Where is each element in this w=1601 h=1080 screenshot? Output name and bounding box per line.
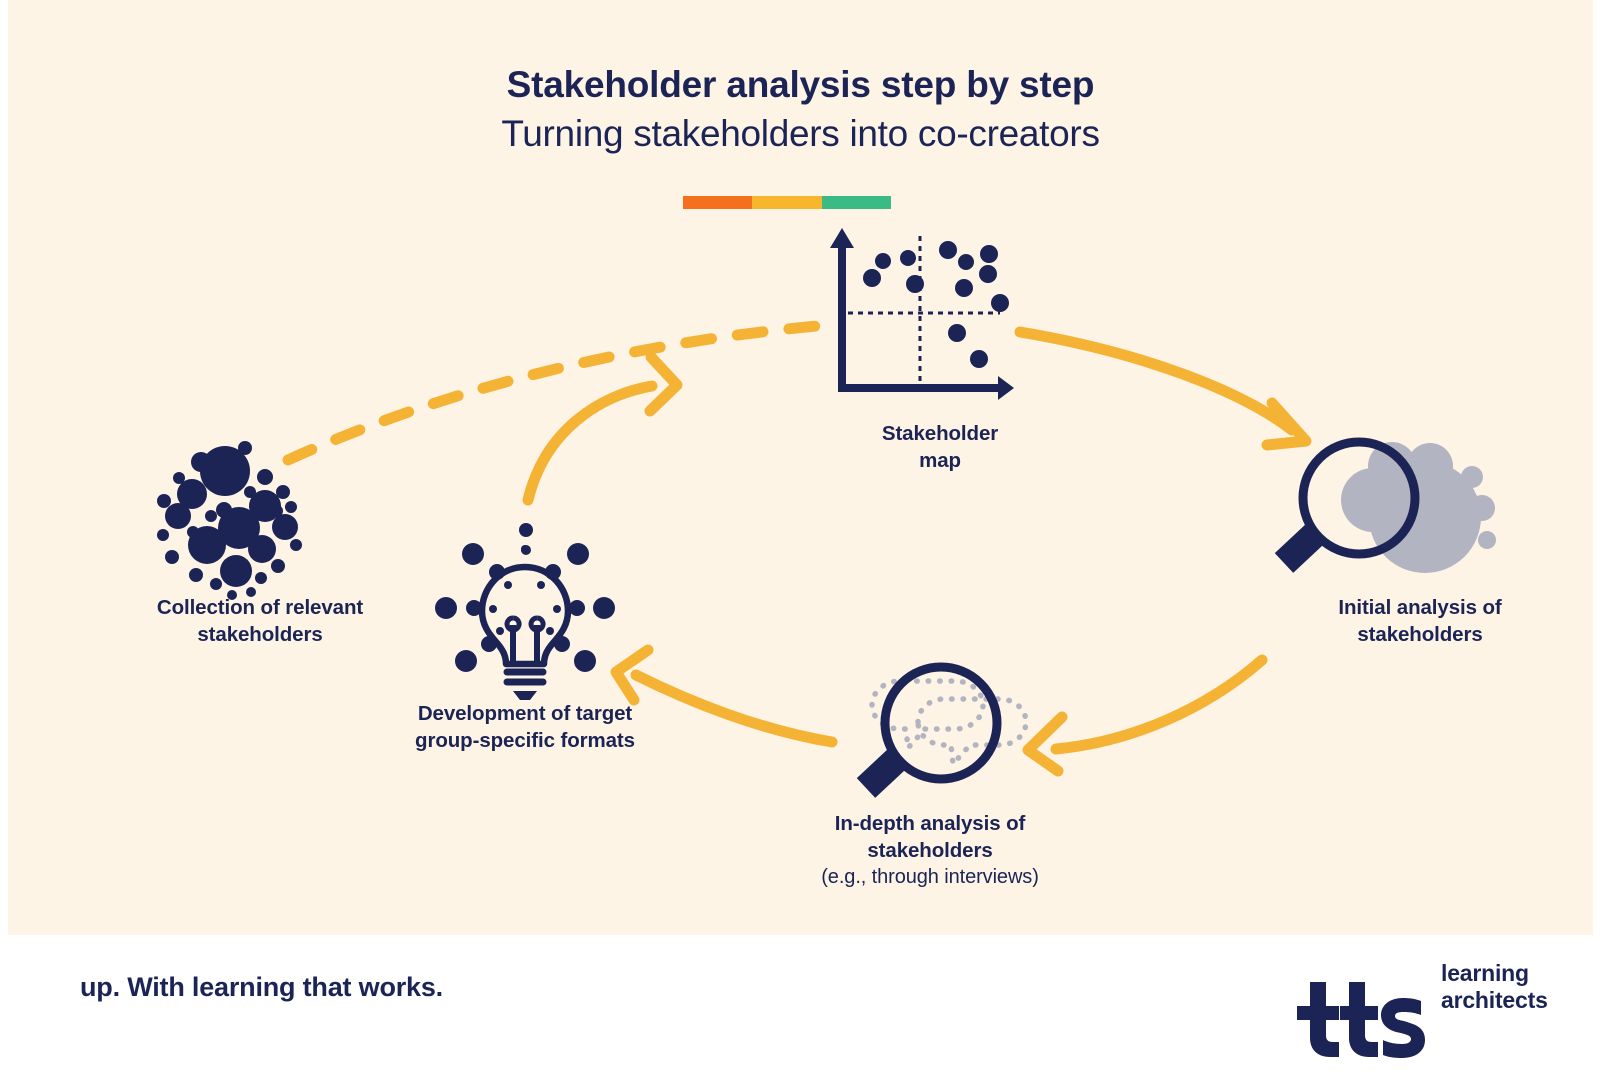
magnifier-lens-2 (885, 667, 997, 779)
lightbulb-glass (482, 567, 568, 664)
scatter-plot-icon (830, 228, 1014, 400)
lightbulb-base (507, 672, 543, 682)
speech-bubble-right (918, 699, 1026, 764)
arrow-map-to-initial-head (1267, 403, 1306, 445)
label-initial-line1: Initial analysis of (1240, 594, 1600, 621)
label-stakeholder-map: Stakeholder map (800, 420, 1080, 474)
label-collection-line2: stakeholders (80, 621, 440, 648)
label-development-line2: group-specific formats (370, 727, 680, 754)
arrow-initial-to-indepth-shaft (1056, 660, 1262, 749)
label-indepth-line1: In-depth analysis of (760, 810, 1100, 837)
magnifier-handle (1284, 534, 1315, 563)
lightbulb-idea-icon (435, 523, 615, 700)
footer-tagline: up. With learning that works. (80, 972, 443, 1003)
label-initial-line2: stakeholders (1240, 621, 1600, 648)
label-collection-line1: Collection of relevant (80, 594, 440, 621)
label-stakeholder-map-line1: Stakeholder (800, 420, 1080, 447)
label-collection-of-stakeholders: Collection of relevant stakeholders (80, 594, 440, 648)
scatter-x-arrowhead (998, 376, 1014, 400)
diagram-canvas (0, 0, 1601, 1080)
magnifier-speech-bubbles-icon (866, 667, 1026, 788)
lightbulb-filament-curls (507, 618, 543, 630)
logo-wordmark: learning architects (1441, 960, 1548, 1015)
label-indepth-note: (e.g., through interviews) (760, 864, 1100, 890)
scatter-points (863, 241, 1009, 368)
logo-line-architects: architects (1441, 987, 1548, 1014)
label-stakeholder-map-line2: map (800, 447, 1080, 474)
label-initial-analysis: Initial analysis of stakeholders (1240, 594, 1600, 648)
arrow-development-to-map-shaft (528, 386, 652, 500)
scatter-y-arrowhead (830, 228, 854, 248)
lightbulb-rays (435, 523, 615, 672)
label-development-formats: Development of target group-specific for… (370, 700, 680, 754)
magnifier-bubbles-icon (1284, 442, 1496, 573)
logo-line-learning: learning (1441, 960, 1548, 987)
arrow-map-to-initial-shaft (1020, 332, 1292, 430)
infographic-root: Stakeholder analysis step by step Turnin… (0, 0, 1601, 1080)
label-development-line1: Development of target (370, 700, 680, 727)
magnifier-handle-2 (866, 759, 897, 788)
label-indepth-line2: stakeholders (760, 837, 1100, 864)
lightbulb-screw (513, 691, 537, 700)
bubble-cluster-icon (157, 441, 302, 600)
brand-logo: learning architects (1290, 960, 1548, 1015)
label-indepth-analysis: In-depth analysis of stakeholders (e.g.,… (760, 810, 1100, 890)
